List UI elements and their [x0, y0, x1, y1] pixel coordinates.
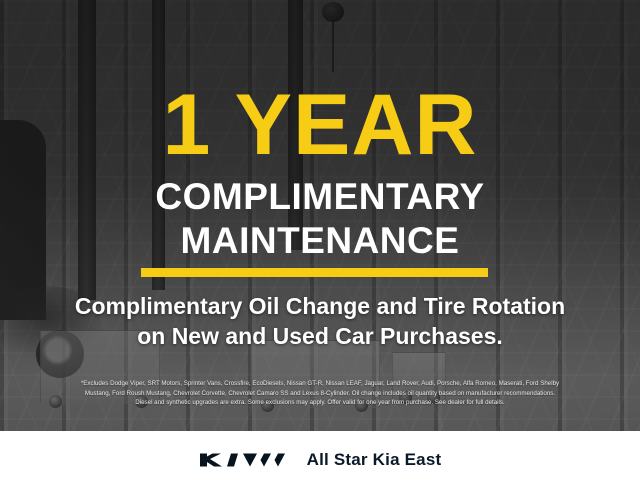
subheadline-line-2: on New and Used Car Purchases.: [0, 321, 640, 351]
disclaimer-text: *Excludes Dodge Viper, SRT Motors, Sprin…: [12, 379, 628, 408]
disclaimer-line-1: *Excludes Dodge Viper, SRT Motors, Sprin…: [12, 379, 628, 389]
hero-content: 1 YEAR COMPLIMENTARY MAINTENANCE Complim…: [0, 0, 640, 431]
dealer-name: All Star Kia East: [307, 450, 442, 470]
hero-photo-area: 1 YEAR COMPLIMENTARY MAINTENANCE Complim…: [0, 0, 640, 431]
disclaimer-line-3: Diesel and synthetic upgrades are extra.…: [12, 398, 628, 408]
headline-complimentary: COMPLIMENTARY: [0, 178, 640, 215]
yellow-divider-bar: [141, 268, 488, 277]
subheadline-line-1: Complimentary Oil Change and Tire Rotati…: [0, 291, 640, 321]
kia-logo-icon: [199, 447, 287, 473]
disclaimer-line-2: Mustang, Ford Roush Mustang, Chevrolet C…: [12, 389, 628, 399]
headline-year: 1 YEAR: [0, 82, 640, 168]
footer-bar: All Star Kia East: [0, 431, 640, 488]
subheadline: Complimentary Oil Change and Tire Rotati…: [0, 291, 640, 351]
promo-banner: 1 YEAR COMPLIMENTARY MAINTENANCE Complim…: [0, 0, 640, 488]
headline-maintenance: MAINTENANCE: [0, 222, 640, 259]
